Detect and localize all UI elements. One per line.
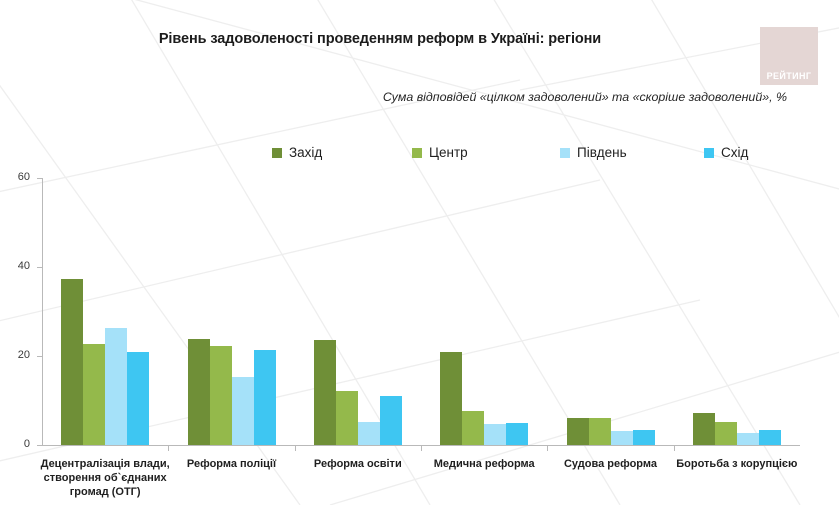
bar-південь-5[interactable] <box>737 433 759 445</box>
bar-південь-0[interactable] <box>105 328 127 445</box>
x-tick-mark <box>295 446 296 451</box>
bar-захід-1[interactable] <box>188 339 210 445</box>
chart-legend: ЗахідЦентрПівденьСхід <box>272 145 792 165</box>
x-tick-mark <box>674 446 675 451</box>
bar-захід-5[interactable] <box>693 413 715 445</box>
logo-label: РЕЙТИНГ <box>767 71 812 85</box>
legend-swatch-icon <box>412 148 422 158</box>
bar-південь-1[interactable] <box>232 377 254 445</box>
legend-label: Центр <box>429 145 468 160</box>
legend-swatch-icon <box>560 148 570 158</box>
bar-схід-0[interactable] <box>127 352 149 445</box>
y-tick-label: 0 <box>2 438 30 450</box>
y-tick-mark <box>37 178 42 179</box>
y-tick-mark <box>37 445 42 446</box>
bar-центр-0[interactable] <box>83 344 105 445</box>
bar-центр-2[interactable] <box>336 391 358 445</box>
y-tick-label: 40 <box>2 260 30 272</box>
y-tick-mark <box>37 267 42 268</box>
x-category-label: Реформа поліції <box>160 458 302 472</box>
bar-центр-4[interactable] <box>589 418 611 445</box>
bar-схід-2[interactable] <box>380 396 402 445</box>
x-category-label: Децентралізація влади, створення об`єдна… <box>34 458 176 499</box>
legend-item-південь[interactable]: Південь <box>560 145 627 160</box>
y-tick-label: 20 <box>2 349 30 361</box>
bar-центр-3[interactable] <box>462 411 484 445</box>
page-title: Рівень задоволеності проведенням реформ … <box>0 31 760 47</box>
chart-canvas: Рівень задоволеності проведенням реформ … <box>0 0 839 505</box>
bar-південь-4[interactable] <box>611 431 633 445</box>
bar-захід-4[interactable] <box>567 418 589 445</box>
legend-item-схід[interactable]: Схід <box>704 145 748 160</box>
legend-swatch-icon <box>272 148 282 158</box>
y-tick-mark <box>37 356 42 357</box>
legend-label: Схід <box>721 145 748 160</box>
bar-південь-2[interactable] <box>358 422 380 445</box>
bar-схід-1[interactable] <box>254 350 276 445</box>
x-category-label: Медична реформа <box>413 458 555 472</box>
x-category-label: Реформа освіти <box>287 458 429 472</box>
bar-схід-3[interactable] <box>506 423 528 445</box>
bar-центр-5[interactable] <box>715 422 737 445</box>
x-category-label: Судова реформа <box>539 458 681 472</box>
bar-схід-4[interactable] <box>633 430 655 445</box>
bar-центр-1[interactable] <box>210 346 232 445</box>
x-tick-mark <box>168 446 169 451</box>
bar-захід-0[interactable] <box>61 279 83 445</box>
x-tick-mark <box>421 446 422 451</box>
bar-схід-5[interactable] <box>759 430 781 445</box>
legend-item-захід[interactable]: Захід <box>272 145 322 160</box>
legend-label: Захід <box>289 145 322 160</box>
y-tick-label: 60 <box>2 171 30 183</box>
x-tick-mark <box>547 446 548 451</box>
legend-label: Південь <box>577 145 627 160</box>
legend-item-центр[interactable]: Центр <box>412 145 468 160</box>
x-category-label: Боротьба з корупцією <box>666 458 808 472</box>
legend-swatch-icon <box>704 148 714 158</box>
chart-subtitle: Сума відповідей «цілком задоволений» та … <box>383 90 787 104</box>
y-axis-line <box>42 178 43 446</box>
bar-захід-2[interactable] <box>314 340 336 445</box>
bar-південь-3[interactable] <box>484 424 506 445</box>
bar-захід-3[interactable] <box>440 352 462 445</box>
plot-area: 0204060Децентралізація влади, створення … <box>0 0 839 505</box>
rating-logo: РЕЙТИНГ <box>760 27 818 85</box>
